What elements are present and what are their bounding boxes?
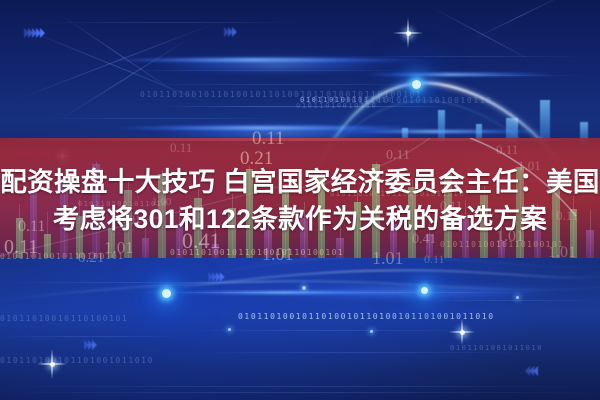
glow-dot-arc-apex — [412, 80, 421, 89]
chevron-icon — [40, 28, 45, 38]
binary-digits: 01011010010110100101 — [0, 314, 128, 323]
sparkle-bottom-mid-icon — [449, 319, 475, 345]
headline-line-2: 考虑将301和122条款作为关税的备选方案 — [0, 201, 600, 238]
sparkle-core — [406, 31, 411, 36]
glow-dot-lower-left — [162, 289, 171, 298]
decorative-hairline — [200, 352, 520, 353]
price-number: 0.11 — [424, 252, 445, 267]
glow-streak — [150, 60, 400, 69]
sparkle-bottom-left-icon — [37, 349, 67, 379]
price-number: 0.11 — [496, 142, 518, 158]
binary-digits: 01011010010110100101 — [440, 240, 564, 249]
decorative-hairline — [100, 70, 440, 71]
price-number: 0.11 — [252, 128, 285, 150]
binary-digits: 010110100101101001011010 — [0, 356, 154, 365]
chevrons-bottom-left-icon — [84, 340, 96, 350]
decorative-hairline — [0, 386, 600, 387]
chevrons-top-right-icon — [224, 27, 236, 37]
chevrons-bottom-right-icon — [526, 366, 538, 376]
binary-digits: 010110100101 — [300, 96, 370, 104]
sparkle-top-right-icon — [393, 18, 423, 48]
binary-digits: 01011010010110100101 — [0, 252, 124, 261]
decorative-hairline — [420, 300, 600, 301]
sparkle-core — [460, 330, 465, 335]
small-dot — [516, 296, 519, 299]
price-number: 0.11 — [170, 140, 192, 156]
chevron-icon — [232, 27, 237, 37]
glow-streak — [330, 130, 560, 133]
glow-dot-lower-arc — [421, 287, 428, 294]
chevrons-top-left-icon — [24, 28, 44, 38]
chevrons-mid-right-icon — [208, 272, 223, 282]
decorative-hairline — [340, 56, 590, 57]
small-dot — [302, 286, 306, 290]
headline-text: 配资操盘十大技巧 白宫国家经济委员会主任：美国 考虑将301和122条款作为关税… — [0, 164, 600, 238]
decorative-hairline — [0, 282, 300, 283]
news-banner-image: 0101101001011010010110100101101001011010… — [0, 0, 600, 400]
small-dot — [370, 330, 373, 333]
headline-line-1: 配资操盘十大技巧 白宫国家经济委员会主任：美国 — [0, 164, 600, 201]
binary-digits: 0101101001011010 — [450, 344, 543, 352]
decorative-hairline — [180, 330, 480, 331]
price-number: 1.01 — [372, 248, 404, 269]
decorative-hairline — [40, 22, 300, 23]
sparkle-core — [50, 362, 55, 367]
glow-streak — [360, 73, 560, 76]
price-number: 0.11 — [386, 148, 410, 164]
chevron-icon — [92, 340, 97, 350]
binary-digits: 0101101001011010010110100101 — [170, 248, 344, 257]
chevron-icon — [533, 366, 538, 376]
decorative-hairline — [0, 392, 600, 393]
small-dot — [228, 328, 231, 331]
decorative-hairline — [0, 336, 180, 337]
decorative-hairline — [140, 84, 440, 85]
chevron-icon — [220, 272, 225, 282]
decorative-hairline — [40, 118, 280, 119]
